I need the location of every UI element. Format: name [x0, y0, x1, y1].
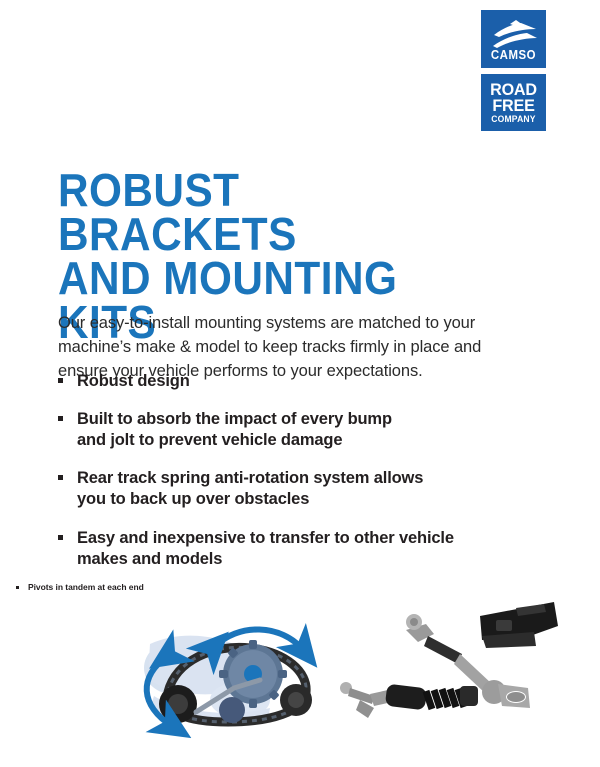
feature-list: Robust design Built to absorb the impact…	[58, 371, 528, 587]
camso-chevron-icon	[481, 19, 546, 49]
roadfree-line-2: FREE	[483, 98, 545, 114]
track-system-diagram	[110, 600, 325, 740]
camso-logo: CAMSO	[481, 10, 546, 68]
road-free-company-wordmark: ROAD FREE COMPANY	[481, 82, 546, 124]
roadfree-line-3: COMPANY	[483, 115, 545, 123]
list-item: Easy and inexpensive to transfer to othe…	[58, 528, 528, 570]
mounting-hardware-photo	[330, 596, 560, 736]
coil-spring-shock-absorber	[340, 682, 478, 718]
camso-wordmark: CAMSO	[485, 48, 542, 61]
road-free-company-logo: ROAD FREE COMPANY	[481, 74, 546, 131]
list-item: Robust design	[58, 371, 528, 392]
black-mounting-bracket	[480, 602, 558, 648]
list-item: Built to absorb the impact of every bump…	[58, 409, 528, 451]
illustration-area	[0, 596, 600, 767]
list-item: Rear track spring anti-rotation system a…	[58, 468, 528, 510]
footnote-pivots: Pivots in tandem at each end	[16, 582, 144, 592]
logo-stack: CAMSO ROAD FREE COMPANY	[481, 10, 546, 131]
